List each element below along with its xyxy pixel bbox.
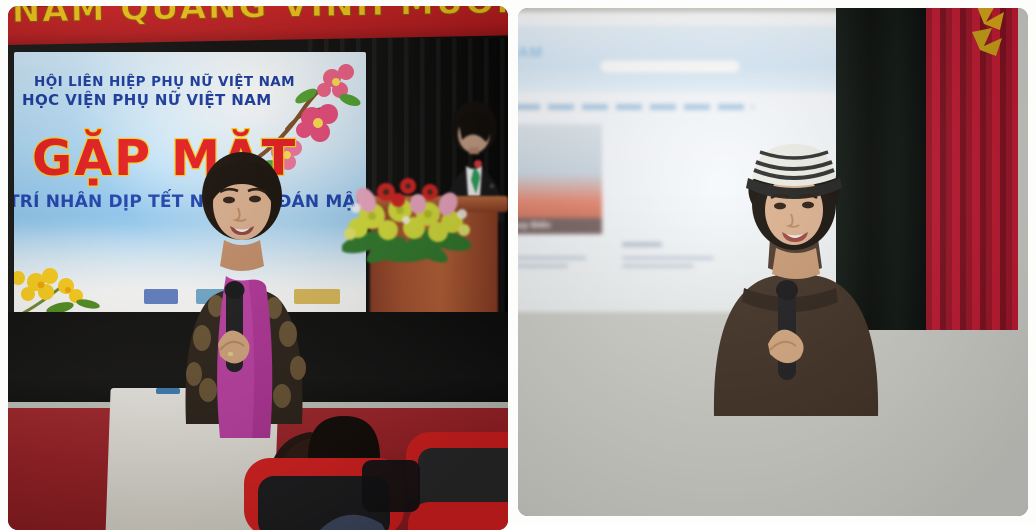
right-photo: NAM Thụy Điển: [518, 8, 1028, 516]
collage-sheet: NAM QUANG VINH MUÔN: [0, 0, 1036, 524]
right-photo-vignette: [518, 8, 1028, 516]
photo-pair: NAM QUANG VINH MUÔN: [0, 0, 1036, 524]
left-photo: NAM QUANG VINH MUÔN: [8, 6, 508, 530]
left-photo-vignette: [8, 6, 508, 530]
